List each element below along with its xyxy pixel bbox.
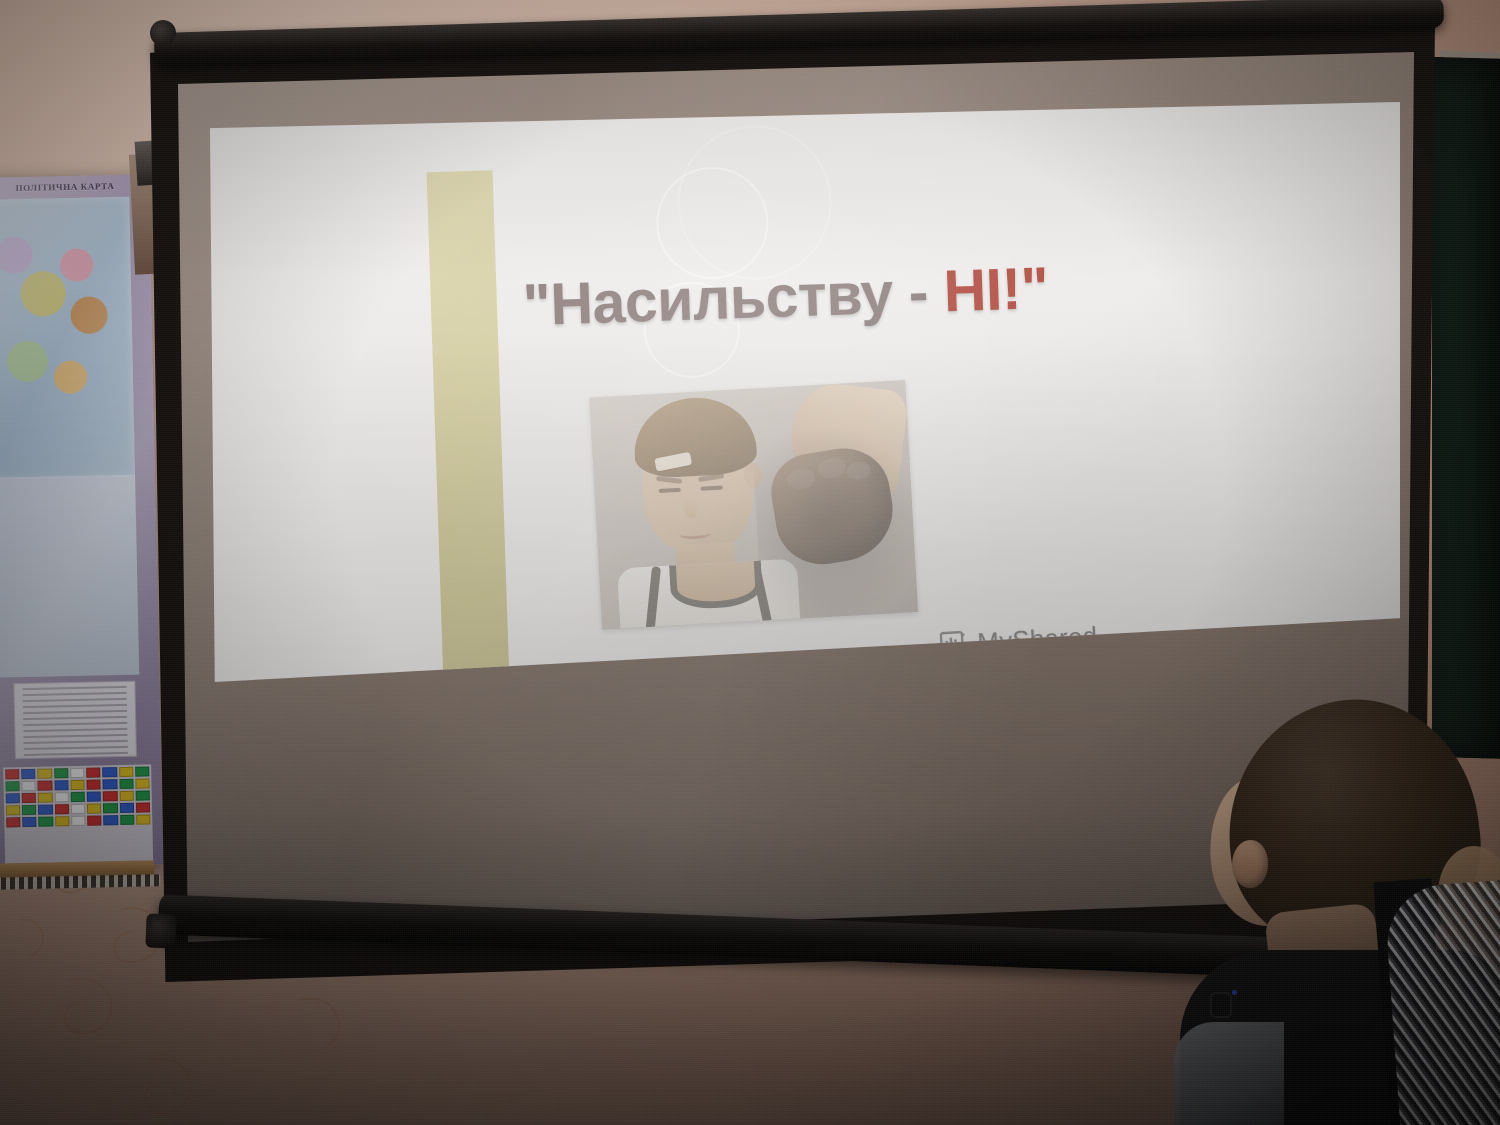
classroom-projector-scene: ПОЛІТИЧНА КАРТА "Насильству - НІ!" — [0, 0, 1500, 1125]
lens-vignette — [0, 0, 1500, 1125]
